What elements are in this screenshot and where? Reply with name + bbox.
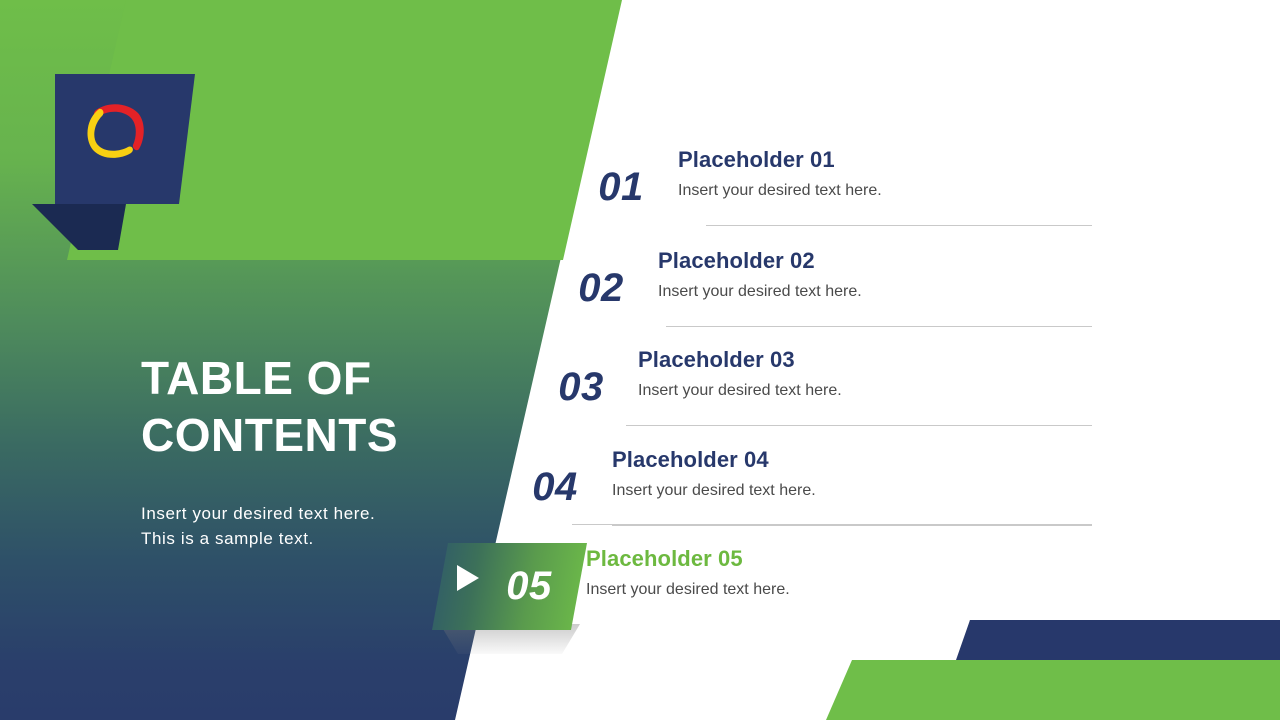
toc-description-01: Insert your desired text here. xyxy=(678,182,882,200)
slide-canvas: TABLE OF CONTENTS Insert your desired te… xyxy=(0,0,1280,720)
toc-divider-04 xyxy=(612,525,1092,526)
toc-number-01: 01 xyxy=(578,165,664,210)
toc-divider-05 xyxy=(572,524,1092,525)
toc-body-05: Placeholder 05 Insert your desired text … xyxy=(586,546,790,599)
toc-description-02: Insert your desired text here. xyxy=(658,283,862,301)
toc-description-03: Insert your desired text here. xyxy=(638,382,842,400)
toc-number-04: 04 xyxy=(512,465,598,510)
toc-body-01: Placeholder 01 Insert your desired text … xyxy=(678,147,882,200)
toc-divider-02 xyxy=(666,326,1092,327)
toc-number-03: 03 xyxy=(538,365,624,410)
toc-divider-03 xyxy=(626,425,1092,426)
play-triangle-icon[interactable] xyxy=(455,563,481,593)
toc-description-05: Insert your desired text here. xyxy=(586,581,790,599)
toc-title-01: Placeholder 01 xyxy=(678,147,882,173)
toc-title-04: Placeholder 04 xyxy=(612,447,816,473)
toc-title-05: Placeholder 05 xyxy=(586,546,790,572)
toc-body-03: Placeholder 03 Insert your desired text … xyxy=(638,347,842,400)
toc-number-02: 02 xyxy=(558,266,644,311)
toc-number-05: 05 xyxy=(486,564,572,609)
toc-body-04: Placeholder 04 Insert your desired text … xyxy=(612,447,816,500)
table-of-contents-list: 01 Placeholder 01 Insert your desired te… xyxy=(0,0,1280,720)
toc-divider-01 xyxy=(706,225,1092,226)
toc-title-03: Placeholder 03 xyxy=(638,347,842,373)
toc-body-02: Placeholder 02 Insert your desired text … xyxy=(658,248,862,301)
toc-title-02: Placeholder 02 xyxy=(658,248,862,274)
toc-description-04: Insert your desired text here. xyxy=(612,482,816,500)
